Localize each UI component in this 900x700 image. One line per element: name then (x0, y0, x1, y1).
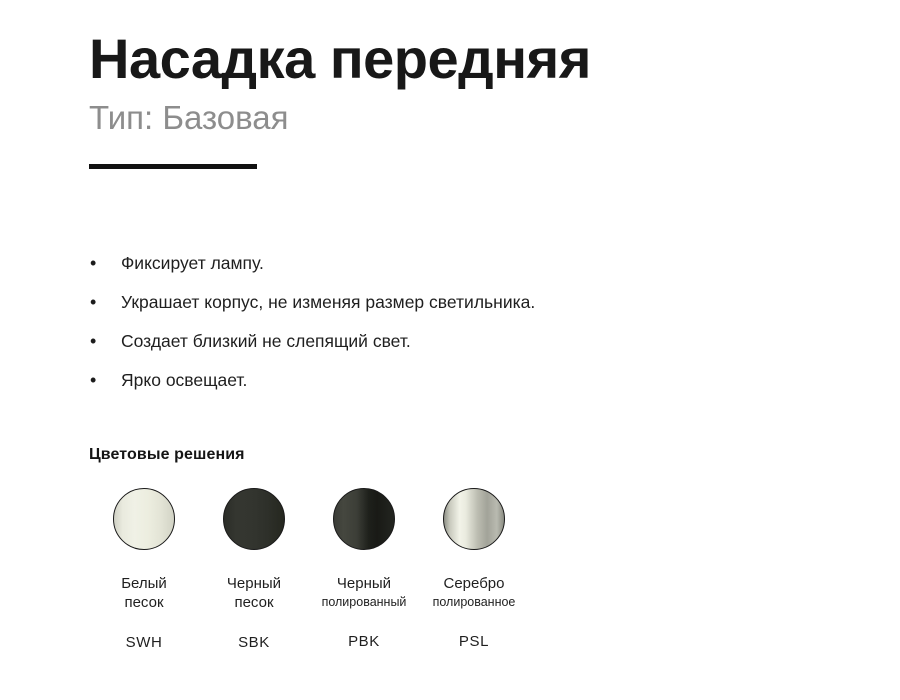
feature-list: • Фиксирует лампу. • Украшает корпус, не… (89, 250, 709, 406)
bullet-icon: • (89, 367, 121, 393)
color-name-main: Черный (322, 574, 407, 593)
feature-text: Создает близкий не слепящий свет. (121, 328, 709, 354)
color-options-heading: Цветовые решения (89, 444, 849, 466)
product-type-subtitle: Тип: Базовая (89, 98, 849, 138)
color-options-section: Цветовые решения Белый песок SWH Черный … (89, 444, 849, 651)
product-spec-page: Насадка передняя Тип: Базовая • Фиксируе… (0, 0, 900, 700)
color-swatch-swh[interactable]: Белый песок SWH (89, 488, 199, 651)
list-item: • Ярко освещает. (89, 367, 709, 393)
color-code: SWH (126, 634, 163, 651)
color-circle-icon[interactable] (333, 488, 395, 550)
page-title: Насадка передняя (89, 28, 849, 90)
color-code: PSL (459, 633, 489, 650)
color-swatch-sbk[interactable]: Черный песок SBK (199, 488, 309, 651)
color-swatch-psl[interactable]: Серебро полированное PSL (419, 488, 529, 650)
color-name-sub: полированный (322, 593, 407, 611)
color-swatch-labels: Серебро полированное (433, 574, 516, 611)
color-swatch-row: Белый песок SWH Черный песок SBK Черный … (89, 488, 849, 651)
bullet-icon: • (89, 250, 121, 276)
feature-text: Фиксирует лампу. (121, 250, 709, 276)
color-circle-icon[interactable] (113, 488, 175, 550)
header: Насадка передняя Тип: Базовая (89, 28, 849, 169)
color-name-sub: песок (227, 593, 281, 612)
list-item: • Фиксирует лампу. (89, 250, 709, 276)
color-code: PBK (348, 633, 380, 650)
list-item: • Украшает корпус, не изменяя размер све… (89, 289, 709, 315)
color-swatch-labels: Белый песок (121, 574, 167, 612)
color-name-main: Белый (121, 574, 167, 593)
feature-text: Ярко освещает. (121, 367, 709, 393)
bullet-icon: • (89, 328, 121, 354)
bullet-icon: • (89, 289, 121, 315)
color-name-main: Серебро (433, 574, 516, 593)
color-circle-icon[interactable] (223, 488, 285, 550)
color-name-sub: песок (121, 593, 167, 612)
list-item: • Создает близкий не слепящий свет. (89, 328, 709, 354)
feature-text: Украшает корпус, не изменяя размер свети… (121, 289, 709, 315)
color-code: SBK (238, 634, 270, 651)
color-swatch-labels: Черный песок (227, 574, 281, 612)
color-swatch-labels: Черный полированный (322, 574, 407, 611)
color-name-main: Черный (227, 574, 281, 593)
title-divider (89, 164, 257, 169)
color-name-sub: полированное (433, 593, 516, 611)
color-circle-icon[interactable] (443, 488, 505, 550)
color-swatch-pbk[interactable]: Черный полированный PBK (309, 488, 419, 650)
